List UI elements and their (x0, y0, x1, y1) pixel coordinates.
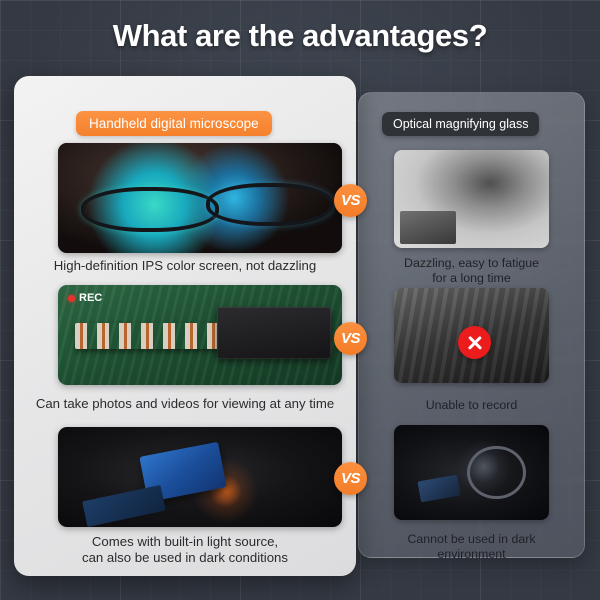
vs-badge-row-3: VS (334, 462, 367, 495)
right-thumbnail-row-3 (394, 425, 549, 520)
vs-badge-row-1: VS (334, 184, 367, 217)
magnifying-glass-dark-photo (394, 425, 549, 520)
left-caption-row-3: Comes with built-in light source, can al… (14, 534, 356, 566)
glasses-screen-reflection-photo (58, 143, 342, 253)
rec-label: REC (79, 292, 102, 304)
column-badge-optical-magnifier: Optical magnifying glass (382, 112, 539, 136)
left-caption-row-1: High-definition IPS color screen, not da… (14, 258, 356, 274)
vs-badge-row-2: VS (334, 322, 367, 355)
rec-dot-icon (68, 295, 75, 302)
left-thumbnail-row-1 (58, 143, 342, 253)
unavailable-x-icon (458, 326, 491, 359)
right-caption-row-1: Dazzling, easy to fatigue for a long tim… (358, 256, 585, 285)
rec-indicator: REC (68, 292, 102, 304)
right-thumbnail-row-1 (394, 150, 549, 248)
page-title: What are the advantages? (0, 18, 600, 54)
column-badge-handheld-microscope: Handheld digital microscope (76, 111, 272, 136)
man-at-microscope-grayscale-photo (394, 150, 549, 248)
right-caption-row-3: Cannot be used in dark environment (358, 532, 585, 561)
left-caption-row-2: Can take photos and videos for viewing a… (14, 396, 356, 412)
left-thumbnail-row-3 (58, 427, 342, 527)
right-caption-row-2: Unable to record (358, 398, 585, 413)
microscope-light-source-dark-photo (58, 427, 342, 527)
